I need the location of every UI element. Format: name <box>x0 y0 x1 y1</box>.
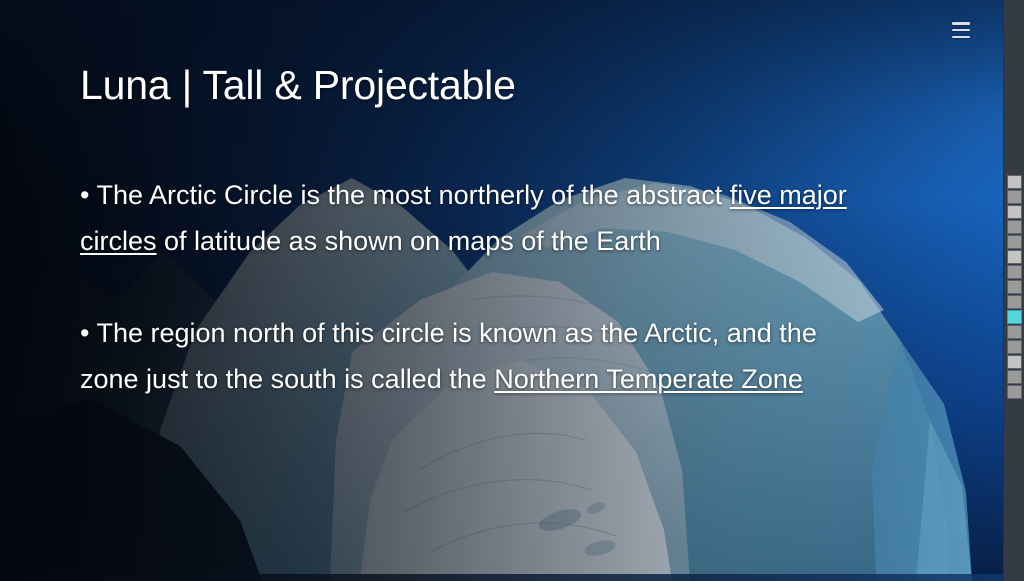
slide-thumbnail-4[interactable] <box>1007 220 1022 234</box>
slide-body: • The Arctic Circle is the most northerl… <box>80 172 870 402</box>
slide-navigator-sidebar[interactable] <box>1003 0 1024 581</box>
slide-thumbnail-strip[interactable] <box>1007 175 1022 399</box>
menu-line-3 <box>952 36 970 39</box>
slide-thumbnail-14[interactable] <box>1007 370 1022 384</box>
slide-thumbnail-15[interactable] <box>1007 385 1022 399</box>
slide-thumbnail-6[interactable] <box>1007 250 1022 264</box>
hamburger-menu-icon[interactable] <box>952 22 970 38</box>
slide-viewer-app: Luna | Tall & Projectable • The Arctic C… <box>0 0 1024 581</box>
bullet-paragraph-2: • The region north of this circle is kno… <box>80 310 870 402</box>
slide-thumbnail-10[interactable] <box>1007 310 1022 324</box>
slide-thumbnail-9[interactable] <box>1007 295 1022 309</box>
slide-thumbnail-7[interactable] <box>1007 265 1022 279</box>
slide-thumbnail-11[interactable] <box>1007 325 1022 339</box>
slide-thumbnail-5[interactable] <box>1007 235 1022 249</box>
menu-line-1 <box>952 22 970 25</box>
menu-line-2 <box>952 29 970 32</box>
bullet-paragraph-1: • The Arctic Circle is the most northerl… <box>80 172 870 264</box>
slide-content: Luna | Tall & Projectable • The Arctic C… <box>0 0 1003 581</box>
bullet-text-run: The Arctic Circle is the most northerly … <box>89 180 729 210</box>
slide-thumbnail-3[interactable] <box>1007 205 1022 219</box>
slide-title: Luna | Tall & Projectable <box>80 62 516 109</box>
bullet-text-run: of latitude as shown on maps of the Eart… <box>157 226 661 256</box>
slide-thumbnail-13[interactable] <box>1007 355 1022 369</box>
slide-thumbnail-8[interactable] <box>1007 280 1022 294</box>
slide-stage[interactable]: Luna | Tall & Projectable • The Arctic C… <box>0 0 1003 581</box>
slide-thumbnail-2[interactable] <box>1007 190 1022 204</box>
slide-thumbnail-1[interactable] <box>1007 175 1022 189</box>
slide-thumbnail-12[interactable] <box>1007 340 1022 354</box>
bullet-link-phrase[interactable]: Northern Temperate Zone <box>494 364 803 394</box>
